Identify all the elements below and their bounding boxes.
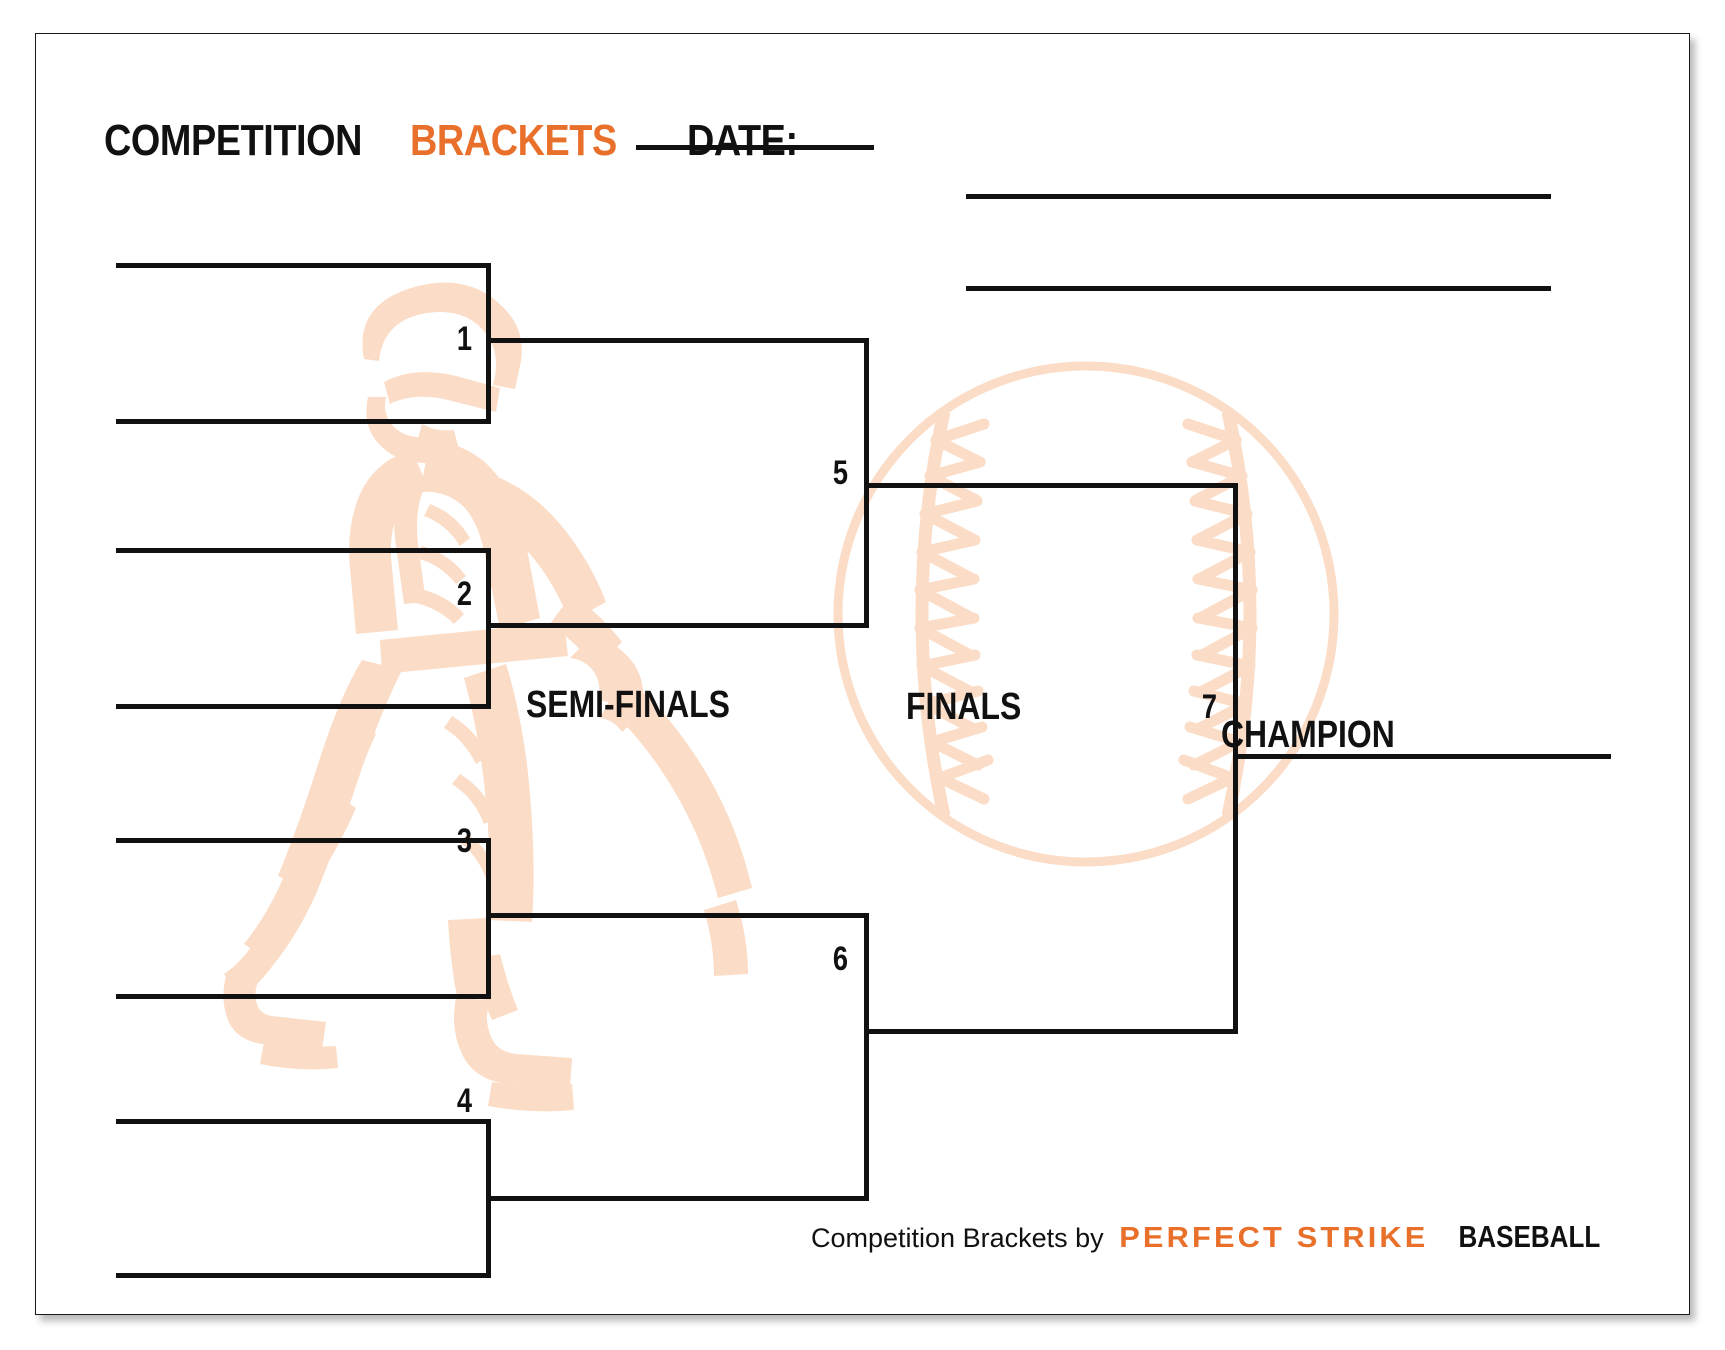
round1-slot-1[interactable] [116,263,491,268]
match-number-1: 1 [403,320,472,359]
semifinals-label: SEMI-FINALS [526,684,730,727]
footer-brand-suffix: BASEBALL [1459,1219,1601,1255]
header-write-in-line-1[interactable] [966,194,1551,199]
date-label: DATE: [687,116,798,166]
round2-feed-top-1 [486,338,869,343]
match-number-7: 7 [1148,688,1217,727]
round1-slot-6[interactable] [116,994,491,999]
round1-slot-3[interactable] [116,548,491,553]
match-number-3: 3 [403,822,472,861]
perfect-strike-logo: PERFECT STRIKE [1119,1222,1428,1255]
match-number-4: 4 [403,1082,472,1121]
footer-credit-text: Competition Brackets by [811,1223,1104,1254]
round2-feed-bottom-1 [486,623,869,628]
finals-label: FINALS [906,686,1021,729]
finals-feed-bottom [864,1029,1238,1034]
round1-slot-4[interactable] [116,704,491,709]
match-number-6: 6 [779,940,848,979]
finals-feed-top [864,483,1238,488]
round1-connector-3 [486,838,491,999]
header-write-in-line-2[interactable] [966,286,1551,291]
round1-slot-8[interactable] [116,1273,491,1278]
title-competition: COMPETITION [104,116,362,166]
page-title: COMPETITIONBRACKETSDATE: [104,116,815,166]
match-number-2: 2 [403,575,472,614]
baseball-watermark [826,354,1346,874]
bracket-sheet: COMPETITIONBRACKETSDATE: 1 2 3 4 5 6 7 S… [35,33,1690,1315]
date-write-in-line[interactable] [636,145,874,150]
title-brackets: BRACKETS [410,116,617,166]
round1-connector-2 [486,548,491,709]
round1-slot-2[interactable] [116,419,491,424]
match-number-5: 5 [779,454,848,493]
round2-feed-bottom-2 [486,1196,869,1201]
champion-label: CHAMPION [1221,714,1395,757]
footer: Competition Brackets by PERFECT STRIKE B… [811,1219,1614,1255]
round1-connector-1 [486,263,491,424]
round2-feed-top-2 [486,913,869,918]
round2-connector-2 [864,913,869,1201]
